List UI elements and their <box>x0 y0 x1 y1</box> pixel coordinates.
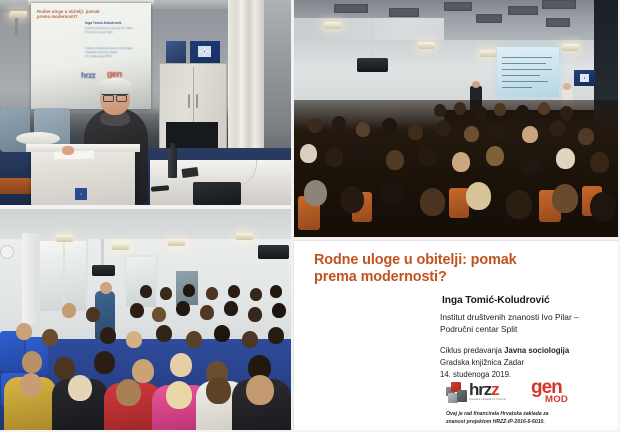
ceiling-projector-second <box>258 245 289 259</box>
audience-head <box>454 102 466 115</box>
cabinet-handle-left <box>188 94 190 108</box>
lecturer-glasses <box>102 94 128 100</box>
audience-head <box>436 120 451 136</box>
audience-head <box>100 327 116 344</box>
blue-box <box>166 41 186 63</box>
person-standing-left-head <box>472 81 480 88</box>
slide-author-name: Inga Tomić-Koludrović <box>442 295 610 306</box>
slide-affiliation-line-1: Institut društvenih znanosti Ivo Pilar – <box>440 312 579 322</box>
slide-funding-note: Ovaj je rad financirala Hrvatska zaklada… <box>446 411 606 426</box>
person-standing-right-head <box>563 83 571 90</box>
audience-head <box>228 285 240 298</box>
audience-crowd <box>294 100 620 237</box>
ceiling-tile <box>546 18 570 27</box>
audience-head <box>332 116 346 131</box>
hrzz-wordmark-base: hrz <box>469 380 491 399</box>
wall-poster <box>574 70 595 86</box>
audience-head <box>16 323 32 340</box>
audience-head <box>126 331 142 348</box>
slide-date: 14. studenoga 2019. <box>440 370 511 379</box>
presentation-title-slide: Rodne uloge u obitelji: pomak prema mode… <box>294 241 620 432</box>
wall-lamp <box>418 42 435 49</box>
lecturer-hair <box>98 78 132 94</box>
projected-slide-affiliation: Institut društvenih znanosti Ivo Pilar –… <box>85 27 146 35</box>
genmod-logo: gen MOD <box>531 379 568 405</box>
audience-head <box>326 148 343 167</box>
audience-head <box>550 120 565 136</box>
wall-lamp <box>112 243 129 250</box>
audience-head <box>516 105 529 119</box>
slide-affiliation: Institut društvenih znanosti Ivo Pilar –… <box>440 311 614 335</box>
audience-head <box>522 126 538 143</box>
projection-screen <box>497 47 559 97</box>
wall-poster <box>190 41 220 65</box>
audience-head <box>186 331 202 348</box>
audience-head <box>130 303 144 318</box>
genmod-sub: MOD <box>545 394 568 405</box>
audience-head <box>224 301 238 316</box>
ceiling-tile <box>508 6 538 15</box>
audience-head <box>86 307 100 322</box>
audience-head <box>170 353 192 377</box>
ceiling-tile <box>444 2 472 11</box>
slide-title-line-1: Rodne uloge u obitelji: pomak <box>314 252 517 268</box>
slide-series-name: Javna sociologija <box>504 346 569 355</box>
audience-head <box>22 351 42 373</box>
slide-logos: hrzz Hrvatska zaklada za znanost gen MOD <box>446 381 596 407</box>
lectern-logo <box>75 188 87 200</box>
photo-collage: Rodne uloge u obitelji: pomak prema mode… <box>0 0 620 432</box>
laptop <box>193 182 241 205</box>
audience-head <box>520 154 539 175</box>
audience-head <box>140 285 152 298</box>
audience-head <box>408 124 423 140</box>
audience-head <box>250 288 262 301</box>
slide-affiliation-line-2: Područni centar Split <box>440 324 517 334</box>
audience-head <box>538 102 550 115</box>
audience-head <box>560 106 573 120</box>
wall-lamp <box>324 22 341 29</box>
audience-head <box>183 284 195 297</box>
wall-lamp <box>8 11 28 18</box>
wall-lamp-stem <box>15 18 18 36</box>
ceiling-projector <box>92 265 115 276</box>
wall-lamp <box>562 44 579 51</box>
wall-lamp <box>480 50 497 57</box>
audience-head <box>272 303 286 318</box>
audience-head <box>356 122 370 137</box>
audience-head <box>464 126 479 142</box>
audience-head <box>506 190 532 219</box>
audience-head <box>466 182 491 210</box>
audience-head <box>152 307 166 322</box>
slide-event-details: Ciklus predavanja Javna sociologija Grad… <box>440 345 614 381</box>
slide-series-prefix: Ciklus predavanja <box>440 346 504 355</box>
audience-head <box>300 144 317 163</box>
audience-head <box>116 379 141 406</box>
photo-lecturer-at-lectern: Rodne uloge u obitelji: pomak prema mode… <box>0 0 291 205</box>
audience-head <box>94 351 115 374</box>
audience-head <box>492 122 507 138</box>
wall-clock <box>0 245 14 259</box>
ceiling-tile <box>334 4 368 13</box>
slide-funding-line-1: Ovaj je rad financirala Hrvatska zaklada… <box>446 411 549 417</box>
ceiling-tile <box>476 14 502 23</box>
slide-title-line-2: prema modernosti? <box>314 269 447 285</box>
hrzz-subtitle: Hrvatska zaklada za znanost <box>469 398 506 401</box>
audience-head <box>156 325 172 342</box>
audience-head <box>248 307 262 322</box>
audience-crowd <box>0 289 291 432</box>
audience-head <box>20 373 42 397</box>
audience-head <box>590 192 616 221</box>
audience-head <box>340 186 364 213</box>
slide-funding-line-2: znanost projektom HRZZ-IP-2016-6-6010. <box>446 419 545 425</box>
audience-head <box>160 287 172 300</box>
audience-head <box>354 144 371 163</box>
wall-lamp <box>236 233 253 240</box>
audience-head <box>380 180 404 207</box>
projected-logo-hrzz: hrzz <box>81 71 95 80</box>
cabinet-handle-right <box>196 94 198 108</box>
water-bottle <box>168 148 177 178</box>
audience-head <box>590 152 609 173</box>
audience-head <box>486 146 504 166</box>
hrzz-logo: hrzz Hrvatska zaklada za znanost <box>446 381 499 403</box>
projector-mount <box>370 18 373 60</box>
papers-on-lectern <box>54 150 94 159</box>
audience-head <box>420 188 445 216</box>
audience-head <box>268 327 284 344</box>
audience-head <box>382 118 397 134</box>
audience-head <box>132 359 154 383</box>
audience-head <box>246 375 274 405</box>
audience-head <box>200 305 214 320</box>
ceiling-tile <box>389 8 419 17</box>
audience-head <box>62 303 76 318</box>
audience-head <box>556 148 575 169</box>
wall-lamp <box>168 239 185 246</box>
audience-head <box>270 285 282 298</box>
slide-venue: Gradska knjižnica Zadar <box>440 358 524 367</box>
audience-head <box>176 301 190 316</box>
audience-head <box>206 287 218 300</box>
audience-head <box>304 180 327 206</box>
audience-head <box>386 150 404 170</box>
projected-slide-series: Ciklus predavanja Javna sociologija Grad… <box>85 47 146 59</box>
audience-head <box>242 331 258 348</box>
audience-head <box>418 146 436 166</box>
audience-head <box>214 325 230 342</box>
audience-head <box>42 329 58 346</box>
audience-head <box>434 104 446 117</box>
wall-lamp <box>56 235 73 242</box>
ceiling-projector <box>357 58 388 72</box>
hrzz-wordmark-accent: z <box>491 380 498 399</box>
audience-head <box>578 128 594 145</box>
audience-head <box>452 152 470 172</box>
slide-title: Rodne uloge u obitelji: pomak prema mode… <box>314 252 598 287</box>
projection-screen: Rodne uloge u obitelji: pomak prema mode… <box>31 3 151 109</box>
projected-slide-title: Rodne uloge u obitelji: pomak prema mode… <box>37 9 107 20</box>
hrzz-cubes-icon <box>446 381 468 403</box>
audience-head <box>494 103 506 116</box>
photo-audience-seated <box>0 209 291 432</box>
projector-mount <box>101 239 104 266</box>
hrzz-wordmark: hrzz <box>469 380 499 400</box>
audience-head <box>474 106 487 120</box>
audience-head <box>552 184 578 213</box>
audience-head <box>68 375 92 401</box>
projected-slide-author: Inga Tomić-Koludrović <box>85 21 146 25</box>
photo-audience-wide <box>294 0 620 237</box>
ceiling-tile <box>542 0 576 9</box>
audience-head <box>54 357 75 380</box>
audience-head <box>166 381 192 409</box>
audience-head <box>308 118 322 133</box>
lecturer-hand <box>62 146 74 155</box>
audience-head <box>206 377 231 404</box>
